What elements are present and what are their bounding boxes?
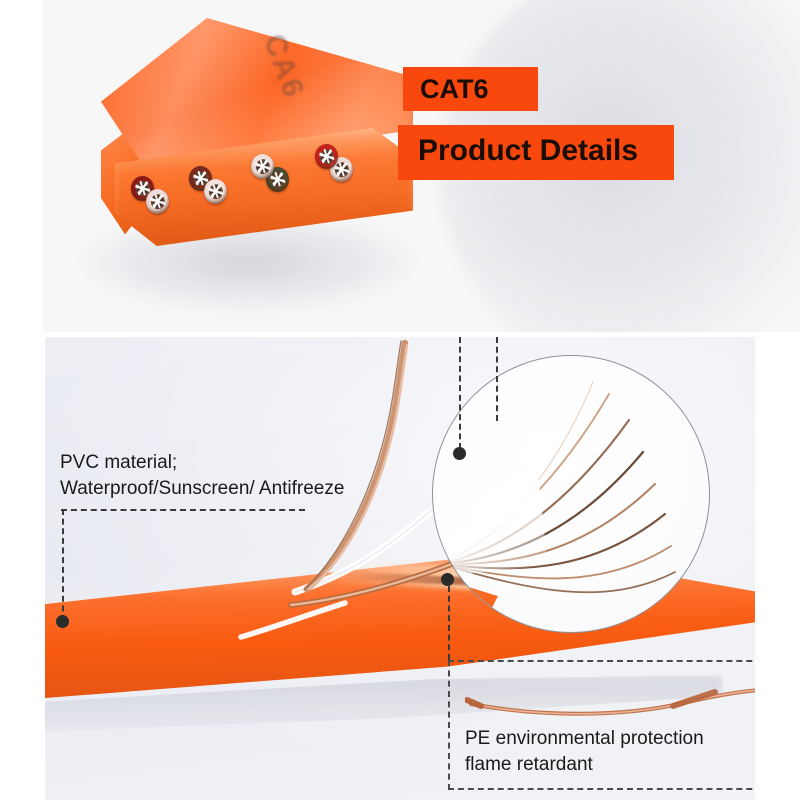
callout-strand-anchor-dot	[453, 447, 466, 460]
callout-strand-leader-right	[496, 337, 498, 421]
conductor	[146, 189, 169, 214]
conductor	[251, 154, 274, 179]
magnifier-circle	[432, 355, 710, 633]
copper-core	[255, 159, 269, 175]
callout-pvc-line1: PVC material;	[60, 450, 177, 476]
strand-glint	[270, 177, 285, 182]
conductor-pair-3	[251, 154, 311, 202]
callout-pe-anchor-dot	[441, 573, 454, 586]
magnified-white-insulation	[432, 470, 548, 578]
callout-pe-line1: PE environmental protection	[465, 726, 704, 752]
product-detail-image: CA6 CAT6 Product Details	[0, 0, 800, 800]
conductor-pair-4	[315, 144, 375, 192]
strand-glint	[334, 167, 349, 172]
callout-pvc-anchor-dot	[56, 615, 69, 628]
callout-pe-leader-vertical	[448, 586, 450, 660]
copper-core	[150, 194, 164, 210]
strand-glint	[255, 164, 270, 169]
conductor	[315, 144, 338, 169]
conductor-pair-1	[131, 176, 191, 224]
banner-product-details: Product Details	[398, 125, 674, 180]
banner-cat6: CAT6	[403, 67, 538, 111]
callout-pvc-leader-vertical	[62, 509, 64, 621]
conductor	[204, 179, 227, 204]
strand-glint	[208, 189, 223, 194]
strand-glint	[319, 154, 334, 159]
copper-core	[208, 184, 222, 200]
callout-strand-leader-left	[459, 337, 461, 449]
conductor-pair-2	[189, 166, 249, 214]
copper-core	[270, 172, 284, 188]
strand-glint	[150, 199, 165, 204]
banner-product-details-label: Product Details	[418, 134, 638, 168]
flat-cable-end-view: CA6	[101, 18, 413, 268]
callout-pvc-leader-horizontal	[61, 509, 305, 511]
strand-glint	[135, 186, 150, 191]
banner-cat6-label: CAT6	[420, 74, 489, 105]
copper-core	[334, 162, 348, 178]
copper-core	[319, 149, 333, 165]
callout-pvc-line2: Waterproof/Sunscreen/ Antifreeze	[60, 476, 344, 502]
strand-glint	[193, 176, 208, 181]
copper-wire-sample	[465, 682, 755, 732]
cable-construction-photo: PVC material; Waterproof/Sunscreen/ Anti…	[45, 337, 755, 800]
callout-pe-line2: flame retardant	[465, 752, 593, 778]
